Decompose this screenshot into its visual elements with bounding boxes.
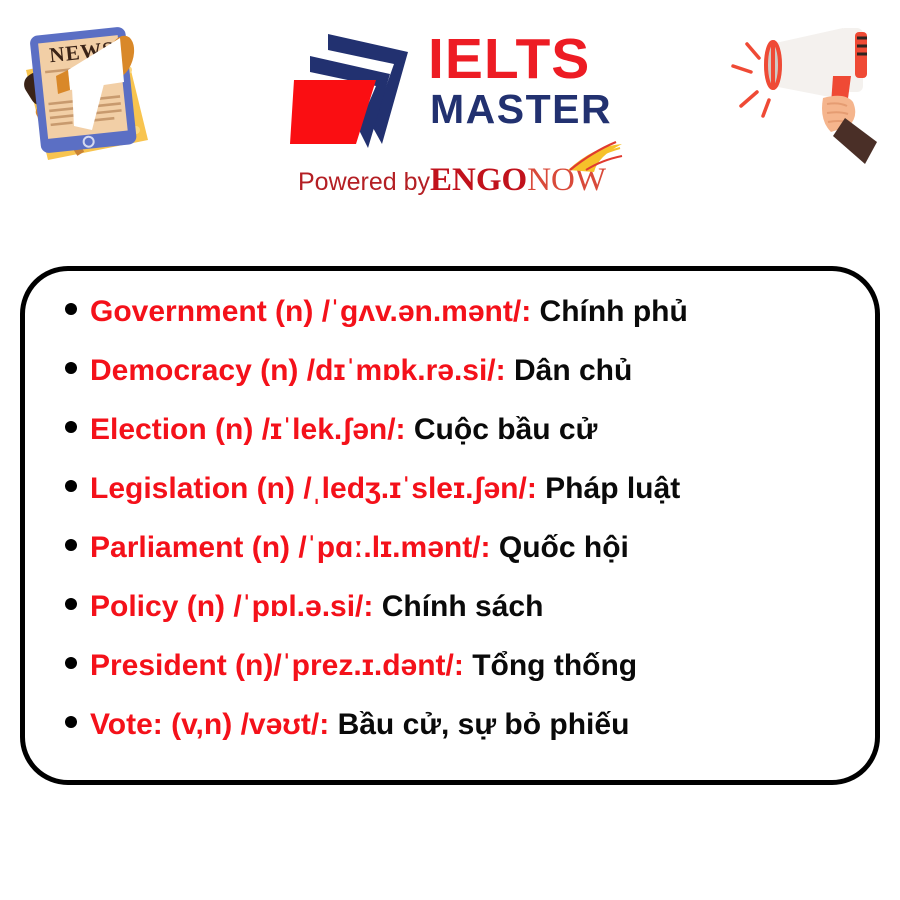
vocab-meaning: Quốc hội — [499, 531, 629, 564]
vocab-meaning: Chính sách — [382, 590, 544, 623]
vocab-term: Election (n) — [90, 413, 253, 446]
engo-wordmark: ENGO — [430, 162, 527, 198]
vocab-entry: Vote: (v,n) /vəʊt/: Bầu cử, sự bỏ phiếu — [90, 710, 629, 740]
vocabulary-list: Government (n) /ˈgʌv.ən.mənt/: Chính phủ… — [25, 271, 875, 769]
vocab-separator: : — [319, 708, 329, 741]
vocab-term: Government (n) — [90, 295, 313, 328]
news-illustration: NEWS — [8, 12, 168, 172]
vocab-entry: Democracy (n) /dɪˈmɒk.rə.si/: Dân chủ — [90, 356, 632, 386]
vocab-entry: Legislation (n) /ˌledʒ.ɪˈsleɪ.ʃən/: Pháp… — [90, 474, 680, 504]
bullet-icon — [65, 303, 77, 315]
vocab-ipa: /vəʊt/ — [241, 708, 320, 741]
bullet-icon — [65, 539, 77, 551]
bullet-icon — [65, 716, 77, 728]
vocab-term: Legislation (n) — [90, 472, 295, 505]
vocab-term: Policy (n) — [90, 590, 225, 623]
list-item: Election (n) /ɪˈlek.ʃən/: Cuộc bầu cử — [25, 415, 875, 474]
bullet-icon — [65, 598, 77, 610]
list-item: Government (n) /ˈgʌv.ən.mənt/: Chính phủ — [25, 297, 875, 356]
brand-title-ielts: IELTS — [428, 32, 623, 87]
vocab-meaning: Chính phủ — [540, 295, 688, 328]
list-item: Vote: (v,n) /vəʊt/: Bầu cử, sự bỏ phiếu — [25, 710, 875, 769]
brand-title-master: MASTER — [430, 89, 623, 130]
vocab-ipa: /ˈprez.ɪ.dənt/ — [273, 649, 454, 682]
vocab-meaning: Tổng thống — [472, 649, 637, 682]
vocab-ipa: /ˌledʒ.ɪˈsleɪ.ʃən/ — [303, 472, 526, 505]
powered-by-tagline: Powered byENGONOW — [298, 162, 628, 199]
vocab-entry: President (n)/ˈprez.ɪ.dənt/: Tổng thống — [90, 651, 637, 681]
vocab-separator: : — [521, 295, 531, 328]
bullet-icon — [65, 657, 77, 669]
vocab-separator: : — [527, 472, 537, 505]
vocab-meaning: Bầu cử, sự bỏ phiếu — [338, 708, 630, 741]
vocab-entry: Parliament (n) /ˈpɑː.lɪ.mənt/: Quốc hội — [90, 533, 629, 563]
vocab-entry: Policy (n) /ˈpɒl.ə.si/: Chính sách — [90, 592, 543, 622]
vocab-separator: : — [496, 354, 506, 387]
brand-logo: IELTS MASTER Powered byENGONOW — [290, 24, 620, 204]
vocab-term: Parliament (n) — [90, 531, 290, 564]
list-item: Policy (n) /ˈpɒl.ə.si/: Chính sách — [25, 592, 875, 651]
vocab-entry: Government (n) /ˈgʌv.ən.mənt/: Chính phủ — [90, 297, 688, 327]
vocab-separator: : — [481, 531, 491, 564]
vocab-separator: : — [454, 649, 464, 682]
vocab-term: President (n) — [90, 649, 273, 682]
list-item: President (n)/ˈprez.ɪ.dənt/: Tổng thống — [25, 651, 875, 710]
vocab-meaning: Cuộc bầu cử — [414, 413, 597, 446]
vocab-separator: : — [363, 590, 373, 623]
header-banner: NEWS — [0, 0, 900, 215]
vocab-ipa: /ɪˈlek.ʃən/ — [262, 413, 396, 446]
megaphone-illustration — [727, 14, 892, 164]
vocabulary-card: Government (n) /ˈgʌv.ən.mənt/: Chính phủ… — [20, 266, 880, 785]
vocab-entry: Election (n) /ɪˈlek.ʃən/: Cuộc bầu cử — [90, 415, 597, 445]
list-item: Legislation (n) /ˌledʒ.ɪˈsleɪ.ʃən/: Pháp… — [25, 474, 875, 533]
book-rays-flourish-icon — [564, 140, 626, 174]
vocab-separator: : — [396, 413, 406, 446]
powered-by-prefix: Powered by — [298, 168, 430, 196]
bullet-icon — [65, 480, 77, 492]
logo-mark-icon — [290, 30, 420, 148]
list-item: Democracy (n) /dɪˈmɒk.rə.si/: Dân chủ — [25, 356, 875, 415]
vocab-ipa: /ˈpɒl.ə.si/ — [233, 590, 363, 623]
vocab-ipa: /dɪˈmɒk.rə.si/ — [307, 354, 496, 387]
vocab-term: Vote: (v,n) — [90, 708, 232, 741]
list-item: Parliament (n) /ˈpɑː.lɪ.mənt/: Quốc hội — [25, 533, 875, 592]
bullet-icon — [65, 421, 77, 433]
vocab-ipa: /ˈpɑː.lɪ.mənt/ — [298, 531, 480, 564]
vocab-meaning: Pháp luật — [545, 472, 680, 505]
vocab-meaning: Dân chủ — [514, 354, 632, 387]
vocab-ipa: /ˈgʌv.ən.mənt/ — [322, 295, 521, 328]
vocab-term: Democracy (n) — [90, 354, 298, 387]
bullet-icon — [65, 362, 77, 374]
